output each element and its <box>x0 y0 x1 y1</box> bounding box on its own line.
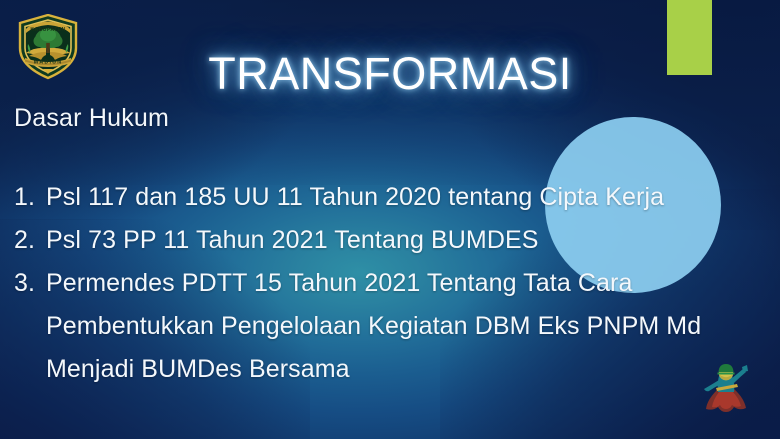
list-item-text: Psl 117 dan 185 UU 11 Tahun 2020 tentang… <box>46 183 664 211</box>
subheading: Dasar Hukum <box>14 104 169 133</box>
slide-title: TRANSFORMASI <box>0 48 780 100</box>
list-item-text: Psl 73 PP 11 Tahun 2021 Tentang BUMDES <box>46 226 539 254</box>
presentation-slide: KABUPATEN KABUPATEN MADIUN TRANSFORMASI … <box>0 0 780 439</box>
list-item: 1. Psl 117 dan 185 UU 11 Tahun 2020 tent… <box>0 176 780 219</box>
list-item-continuation: Pembentukkan Pengelolaan Kegiatan DBM Ek… <box>46 305 780 348</box>
svg-text:KABUPATEN: KABUPATEN <box>30 27 65 33</box>
list-marker: 1. <box>14 176 44 219</box>
list-marker: 3. <box>14 262 44 305</box>
list-marker: 2. <box>14 219 44 262</box>
logo-top-text: KABUPATEN <box>30 27 65 33</box>
list-item: 3. Permendes PDTT 15 Tahun 2021 Tentang … <box>0 262 780 391</box>
list-item-continuation: Menjadi BUMDes Bersama <box>46 348 780 391</box>
list-item-text: Permendes PDTT 15 Tahun 2021 Tentang Tat… <box>46 269 632 297</box>
legal-basis-list: 1. Psl 117 dan 185 UU 11 Tahun 2020 tent… <box>0 176 780 391</box>
list-item: 2. Psl 73 PP 11 Tahun 2021 Tentang BUMDE… <box>0 219 780 262</box>
dancer-mascot-icon <box>697 362 755 418</box>
